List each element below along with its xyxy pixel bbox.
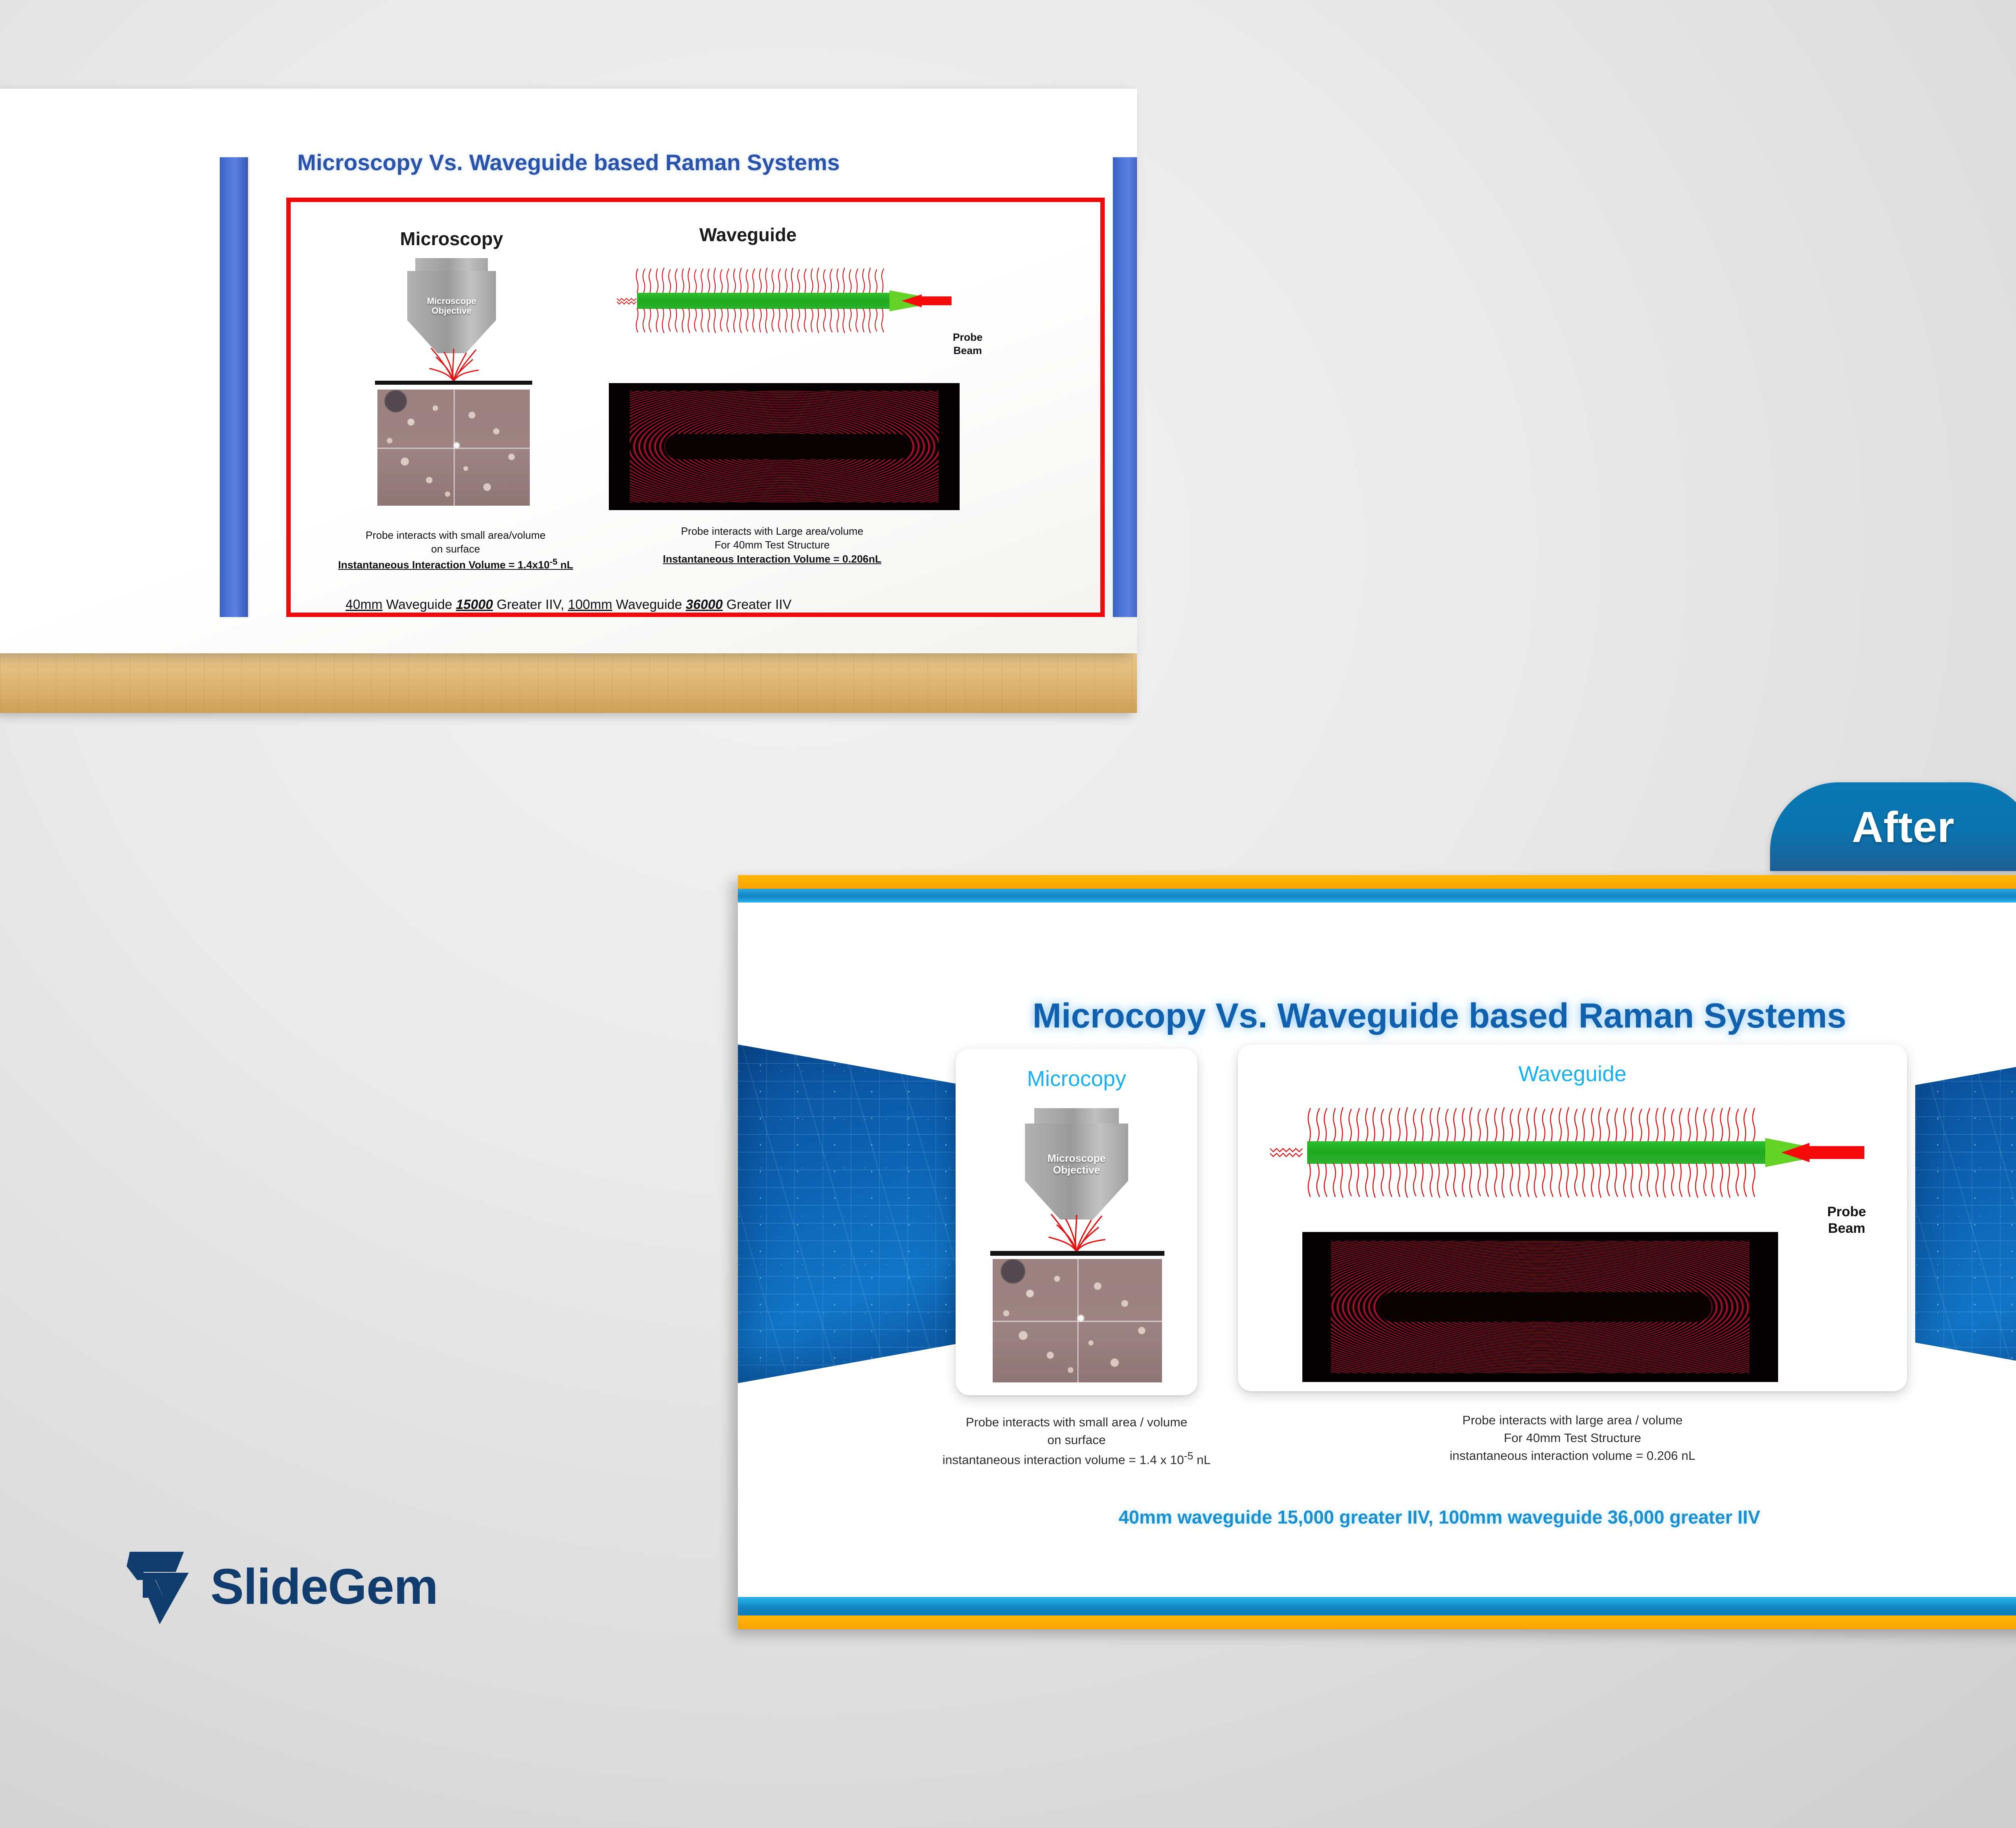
tech-background-right	[1915, 1044, 2016, 1383]
before-cap-left-line3: Instantaneous Interaction Volume = 1.4x1…	[310, 556, 601, 572]
after-probe-beam-label: Probe Beam	[1802, 1204, 1891, 1237]
before-cap-left-line1: Probe interacts with small area/volume	[310, 528, 601, 542]
after-cap-right-line3: instantaneous interaction volume = 0.206…	[1314, 1447, 1831, 1465]
before-probe-label-line2: Beam	[954, 344, 982, 356]
after-sample-slide-line	[990, 1251, 1164, 1256]
before-caption-microscopy: Probe interacts with small area/volume o…	[310, 528, 601, 572]
before-slide-title: Microscopy Vs. Waveguide based Raman Sys…	[0, 149, 1137, 175]
before-slide-floor	[0, 653, 1137, 713]
before-slide[interactable]: Microscopy Vs. Waveguide based Raman Sys…	[0, 89, 1137, 653]
after-panel-heading-microcopy: Microcopy	[956, 1066, 1198, 1091]
before-probe-beam-label: Probe Beam	[935, 331, 1000, 357]
before-panel-heading-waveguide: Waveguide	[629, 224, 867, 246]
after-top-band-orange	[738, 875, 2016, 889]
waveguide-diagram-before	[617, 266, 952, 335]
microscope-objective-collar	[415, 258, 488, 271]
after-probe-label-line1: Probe	[1827, 1204, 1866, 1219]
after-card-waveguide[interactable]: Waveguide	[1238, 1044, 1907, 1391]
after-raman-scatter-burst-icon	[1033, 1204, 1120, 1254]
after-bottom-band-cyan	[738, 1597, 2016, 1615]
waveguide-raman-image-before	[609, 383, 960, 510]
after-cap-left-line2: on surface	[871, 1431, 1282, 1449]
after-probe-label-line2: Beam	[1828, 1221, 1866, 1236]
after-bottom-statement: 40mm waveguide 15,000 greater IIV, 100mm…	[738, 1506, 2016, 1528]
before-accent-bar-right	[1113, 157, 1137, 617]
after-slide-title: Microcopy Vs. Waveguide based Raman Syst…	[738, 996, 2016, 1036]
raman-scatter-burst-icon	[415, 339, 492, 383]
after-objective-label-line1: Microscope	[1048, 1152, 1106, 1164]
after-objective-label-line2: Objective	[1053, 1164, 1100, 1176]
after-caption-waveguide: Probe interacts with large area / volume…	[1314, 1411, 1831, 1465]
before-caption-waveguide: Probe interacts with Large area/volume F…	[621, 524, 923, 566]
badge-after: After	[1770, 782, 2016, 871]
after-cap-left-line3: instantaneous interaction volume = 1.4 x…	[871, 1449, 1282, 1469]
brand-logo[interactable]: SlideGem	[125, 1540, 528, 1633]
after-microscope-objective-body: Microscope Objective	[1025, 1123, 1128, 1181]
after-microscopy-sample-image	[990, 1257, 1164, 1385]
gem-s-logo-icon	[125, 1549, 194, 1625]
after-panel-heading-waveguide: Waveguide	[1238, 1061, 1907, 1086]
microscope-objective-body: Microscope Objective	[407, 271, 496, 320]
before-bottom-statement: 40mm Waveguide 15000 Greater IIV, 100mm …	[0, 597, 1137, 612]
after-cap-right-line1: Probe interacts with large area / volume	[1314, 1411, 1831, 1429]
objective-label-line2: Objective	[431, 306, 471, 316]
objective-label-line1: Microscope	[427, 296, 476, 306]
badge-after-label: After	[1852, 802, 1955, 852]
before-cap-right-line1: Probe interacts with Large area/volume	[621, 524, 923, 538]
waveguide-raman-image-after	[1302, 1232, 1778, 1382]
before-probe-label-line1: Probe	[953, 331, 983, 343]
before-cap-right-line3: Instantaneous Interaction Volume = 0.206…	[621, 552, 923, 566]
tech-background-left	[738, 1044, 964, 1383]
waveguide-diagram-after	[1270, 1105, 1867, 1198]
before-cap-left-line2: on surface	[310, 542, 601, 556]
brand-name: SlideGem	[210, 1558, 438, 1615]
before-panel-heading-microscopy: Microscopy	[359, 228, 544, 250]
before-accent-bar-left	[220, 157, 248, 617]
after-cap-right-line2: For 40mm Test Structure	[1314, 1429, 1831, 1447]
after-bottom-band-orange	[738, 1615, 2016, 1629]
after-card-microcopy[interactable]: Microcopy Microscope Objective	[956, 1048, 1198, 1395]
before-cap-right-line2: For 40mm Test Structure	[621, 538, 923, 552]
after-cap-left-line1: Probe interacts with small area / volume	[871, 1413, 1282, 1431]
after-caption-microcopy: Probe interacts with small area / volume…	[871, 1413, 1282, 1469]
after-top-band-cyan	[738, 889, 2016, 903]
after-slide[interactable]: Microcopy Vs. Waveguide based Raman Syst…	[738, 875, 2016, 1629]
after-microscope-objective-collar	[1034, 1108, 1119, 1123]
sample-slide-line	[375, 381, 532, 385]
microscopy-sample-image	[375, 387, 532, 508]
